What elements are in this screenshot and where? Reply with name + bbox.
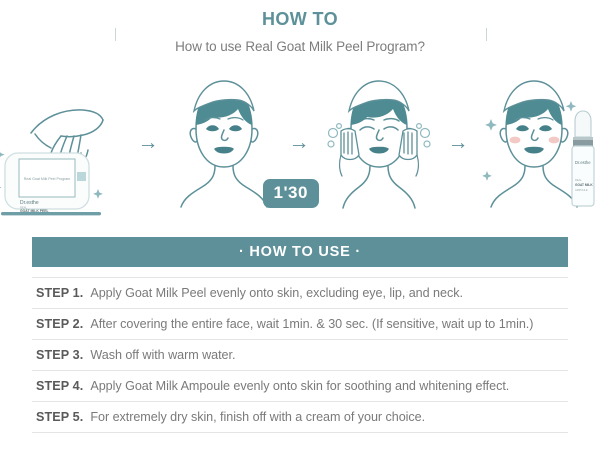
illustration-step-2-wait: 1'30 [168,67,280,222]
step-text: Apply Goat Milk Peel evenly onto skin, e… [90,286,463,300]
hand-right [399,128,418,175]
divider-tick-right [486,28,487,41]
banner-label: · HOW TO USE · [239,244,361,260]
glowing-face-with-ampoule-illustration: Dr.esthe REAL GOAT MILK AMPOULE [478,67,600,217]
bottle-brand-label: Dr.esthe [575,160,591,165]
jar-container: Real Goat Milk Peel Program Dr.esthe REA… [5,153,89,213]
step-label: STEP 4. [36,379,83,393]
illustration-step-4-ampoule: Dr.esthe REAL GOAT MILK AMPOULE [478,67,600,222]
illustration-step-1-apply-peel: Real Goat Milk Peel Program Dr.esthe REA… [0,67,129,222]
step-row: STEP 2. After covering the entire face, … [32,309,568,340]
washing-face-illustration [319,67,439,217]
hand-over-jar-illustration: Real Goat Milk Peel Program Dr.esthe REA… [0,67,129,217]
jar-brand-label: Dr.esthe [20,200,39,206]
shelf-line [1,212,101,215]
jar-inner-label: Real Goat Milk Peel Program [23,177,70,181]
header: HOW TO How to use Real Goat Milk Peel Pr… [0,0,600,54]
svg-text:AMPOULE: AMPOULE [575,188,588,192]
illustration-step-3-wash [319,67,439,222]
svg-text:REAL: REAL [575,178,582,182]
page-title: HOW TO [0,9,600,30]
step-row: STEP 3. Wash off with warm water. [32,340,568,371]
illustration-strip: Real Goat Milk Peel Program Dr.esthe REA… [0,64,600,224]
step-row: STEP 5. For extremely dry skin, finish o… [32,402,568,433]
svg-text:GOAT MILK: GOAT MILK [575,183,593,187]
step-row: STEP 4. Apply Goat Milk Ampoule evenly o… [32,371,568,402]
step-label: STEP 3. [36,348,83,362]
step-label: STEP 1. [36,286,83,300]
step-list: STEP 1. Apply Goat Milk Peel evenly onto… [32,277,568,433]
step-label: STEP 2. [36,317,83,331]
step-text: Wash off with warm water. [90,348,235,362]
hand-left [339,128,358,175]
step-text: Apply Goat Milk Ampoule evenly onto skin… [90,379,509,393]
step-text: For extremely dry skin, finish off with … [90,410,425,424]
arrow-icon-1: → [129,132,168,153]
divider-tick-left [115,28,116,41]
how-to-infographic: HOW TO How to use Real Goat Milk Peel Pr… [0,0,600,463]
how-to-use-banner: · HOW TO USE · [32,237,568,267]
timer-badge: 1'30 [263,179,319,208]
page-subtitle: How to use Real Goat Milk Peel Program? [0,39,600,54]
ampoule-bottle: Dr.esthe REAL GOAT MILK AMPOULE [572,111,594,206]
arrow-icon-2: → [280,132,319,153]
step-label: STEP 5. [36,410,83,424]
step-text: After covering the entire face, wait 1mi… [90,317,533,331]
arrow-icon-3: → [439,132,478,153]
step-row: STEP 1. Apply Goat Milk Peel evenly onto… [32,277,568,309]
